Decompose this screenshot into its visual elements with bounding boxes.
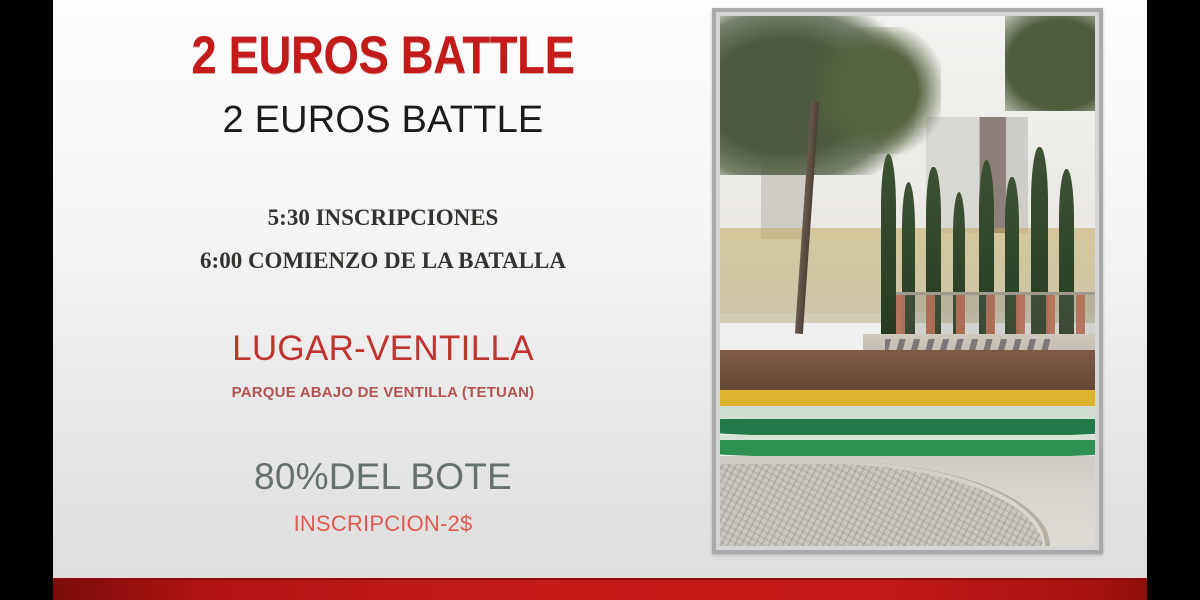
photo-frame bbox=[712, 8, 1103, 554]
presentation-slide: 2 EUROS BATTLE 2 EUROS BATTLE 5:30 INSCR… bbox=[53, 0, 1147, 600]
photo-cypress bbox=[881, 154, 896, 345]
letterbox-right bbox=[1147, 0, 1200, 600]
page-subtitle: 2 EUROS BATTLE bbox=[53, 99, 713, 142]
slide-viewer: 2 EUROS BATTLE 2 EUROS BATTLE 5:30 INSCR… bbox=[0, 0, 1200, 600]
entry-fee: INSCRIPCION-2$ bbox=[53, 511, 713, 537]
venue-title: LUGAR-VENTILLA bbox=[53, 329, 713, 369]
slide-text-column: 2 EUROS BATTLE 2 EUROS BATTLE 5:30 INSCR… bbox=[53, 0, 713, 580]
photo-pine-canopy bbox=[1005, 16, 1095, 111]
venue-detail: PARQUE ABAJO DE VENTILLA (TETUAN) bbox=[53, 384, 713, 401]
bottom-red-band bbox=[53, 578, 1147, 600]
prize-title: 80%DEL BOTE bbox=[53, 456, 713, 498]
schedule-line-start: 6:00 COMIENZO DE LA BATALLA bbox=[53, 248, 713, 274]
letterbox-left bbox=[0, 0, 53, 600]
park-photo bbox=[720, 16, 1095, 546]
page-title: 2 EUROS BATTLE bbox=[99, 28, 667, 84]
photo-pine-canopy bbox=[814, 27, 942, 154]
schedule-line-registration: 5:30 INSCRIPCIONES bbox=[53, 205, 713, 231]
